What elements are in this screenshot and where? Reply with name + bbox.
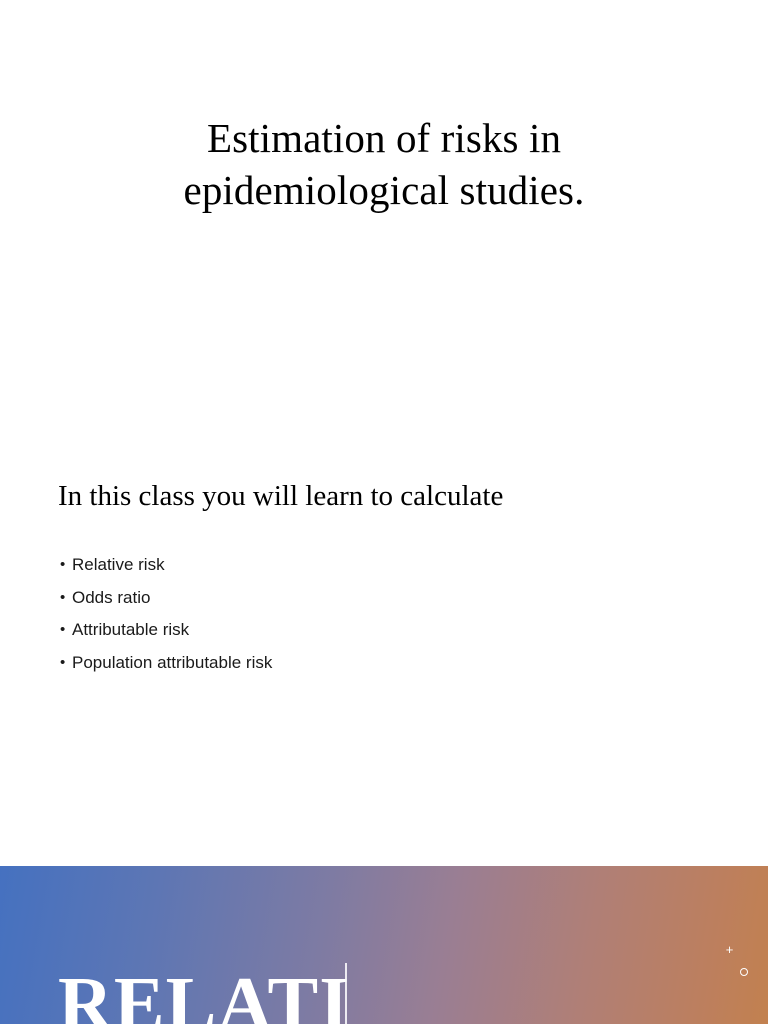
- list-item: • Relative risk: [58, 549, 272, 582]
- list-item-label: Relative risk: [72, 555, 165, 574]
- next-slide-heading: RELATI: [58, 961, 350, 1024]
- subtitle-text: In this class you will learn to calculat…: [58, 478, 503, 514]
- list-item-label: Attributable risk: [72, 620, 189, 639]
- bullet-dot-icon: •: [60, 647, 65, 680]
- page-title: Estimation of risks in epidemiological s…: [0, 112, 768, 216]
- learning-objectives-list: • Relative risk • Odds ratio • Attributa…: [58, 549, 272, 679]
- page-title-line-2: epidemiological studies.: [0, 164, 768, 216]
- vertical-divider: [345, 963, 347, 1024]
- plus-icon: +: [723, 943, 736, 956]
- bullet-dot-icon: •: [60, 614, 65, 647]
- bullet-dot-icon: •: [60, 582, 65, 615]
- circle-icon: [740, 968, 748, 976]
- list-item-label: Population attributable risk: [72, 653, 272, 672]
- list-item: • Attributable risk: [58, 614, 272, 647]
- bullet-dot-icon: •: [60, 549, 65, 582]
- page-title-line-1: Estimation of risks in: [0, 112, 768, 164]
- list-item: • Odds ratio: [58, 582, 272, 615]
- list-item-label: Odds ratio: [72, 588, 150, 607]
- slide-canvas: Estimation of risks in epidemiological s…: [0, 0, 768, 1024]
- list-item: • Population attributable risk: [58, 647, 272, 680]
